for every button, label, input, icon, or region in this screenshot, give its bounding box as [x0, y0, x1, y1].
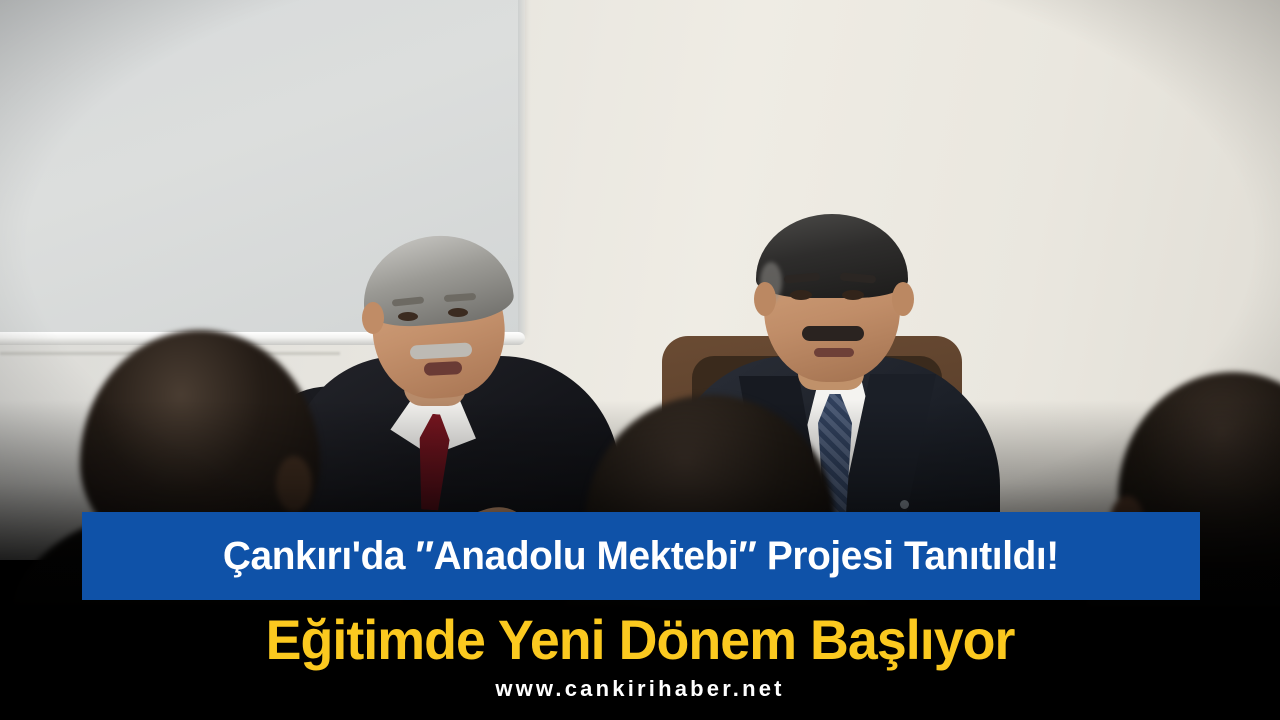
ear	[362, 302, 384, 334]
mouth	[814, 348, 854, 357]
ear-left	[754, 282, 776, 316]
moustache	[802, 326, 864, 341]
subheadline: Eğitimde Yeni Dönem Başlıyor	[0, 604, 1280, 674]
eye-left	[790, 290, 812, 300]
site-url: www.cankirihaber.net	[0, 676, 1280, 702]
headline-text: Çankırı'da ″Anadolu Mektebi″ Projesi Tan…	[223, 534, 1059, 579]
site-url-text: www.cankirihaber.net	[495, 676, 784, 702]
eye-right	[448, 308, 468, 317]
eye-left	[398, 312, 418, 321]
headline-bar: Çankırı'da ″Anadolu Mektebi″ Projesi Tan…	[82, 512, 1200, 600]
mouth	[424, 361, 463, 376]
subheadline-text: Eğitimde Yeni Dönem Başlıyor	[266, 607, 1015, 672]
ear-right	[892, 282, 914, 316]
news-image: Çankırı'da ″Anadolu Mektebi″ Projesi Tan…	[0, 0, 1280, 720]
eye-right	[842, 290, 864, 300]
